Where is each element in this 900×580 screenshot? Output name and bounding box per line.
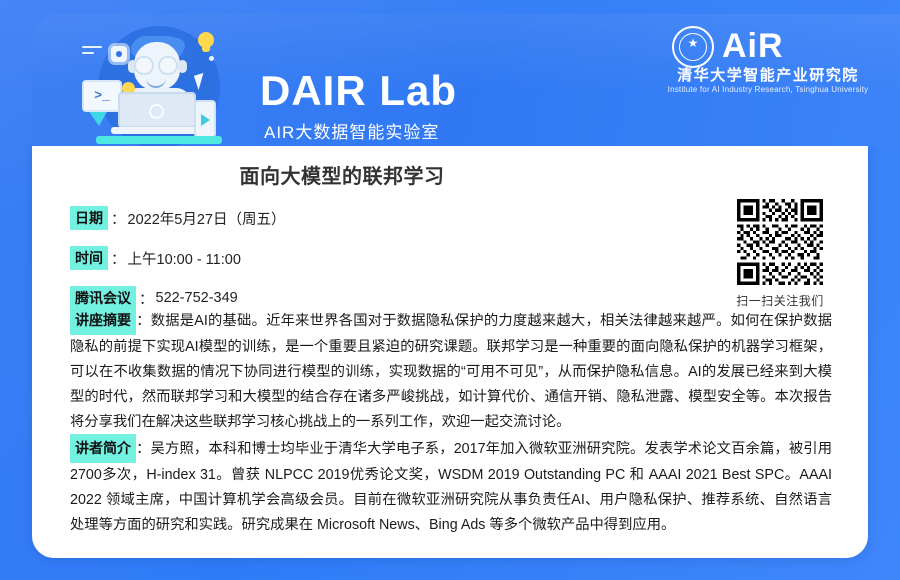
- meeting-id-value: 522-752-349: [156, 290, 238, 306]
- idea-dot-icon: [209, 56, 214, 61]
- lab-title: DAIR Lab: [260, 70, 457, 112]
- abstract-paragraph: 讲座摘要：数据是AI的基础。近年来世界各国对于数据隐私保护的力度越来越大，相关法…: [70, 306, 832, 435]
- seminar-poster: >_ DAIR Lab AIR大数据智能实验室 AiR 清华大学智能产业研究院 …: [0, 0, 900, 580]
- lab-subtitle: AIR大数据智能实验室: [264, 124, 439, 141]
- terminal-pointer: [88, 110, 108, 126]
- time-separator: ：: [108, 248, 128, 269]
- abstract-separator: ：: [136, 313, 151, 329]
- tsinghua-seal-icon: [672, 26, 714, 68]
- bio-separator: ：: [136, 441, 151, 457]
- date-value: 2022年5月27日（周五）: [128, 208, 286, 229]
- date-label: 日期: [70, 206, 108, 230]
- air-logo: AiR 清华大学智能产业研究院 Institute for AI Industr…: [652, 24, 878, 94]
- qr-code-image[interactable]: [734, 196, 826, 288]
- page-title: 面向大模型的联邦学习: [32, 160, 652, 189]
- date-separator: ：: [108, 208, 128, 229]
- content-card: 面向大模型的联邦学习 日期 ： 2022年5月27日（周五） 时间 ： 上午10…: [32, 146, 868, 558]
- time-label: 时间: [70, 246, 108, 270]
- meta-row-time: 时间 ： 上午10:00 - 11:00: [70, 246, 490, 270]
- institute-name-en: Institute for AI Industry Research, Tsin…: [658, 86, 878, 94]
- gear-icon: [111, 46, 127, 62]
- developer-illustration: >_: [70, 20, 242, 146]
- bio-label: 讲者简介: [70, 434, 136, 463]
- glasses-lens-right: [158, 56, 178, 75]
- speed-lines-icon: [82, 46, 104, 58]
- abstract-text: 数据是AI的基础。近年来世界各国对于数据隐私保护的力度越来越大，相关法律越来越严…: [70, 313, 832, 430]
- lightbulb-icon: [198, 32, 214, 48]
- meta-row-date: 日期 ： 2022年5月27日（周五）: [70, 206, 490, 230]
- bio-paragraph: 讲者简介：吴方照，本科和博士均毕业于清华大学电子系，2017年加入微软亚洲研究院…: [70, 434, 832, 538]
- desk-bar: [96, 136, 222, 144]
- person-ear-right: [178, 60, 187, 73]
- laptop-logo-ring: [149, 104, 164, 119]
- qr-block: 扫一扫关注我们: [734, 196, 826, 309]
- qr-code-svg: [734, 196, 826, 288]
- poster-header: >_ DAIR Lab AIR大数据智能实验室 AiR 清华大学智能产业研究院 …: [32, 14, 900, 146]
- institute-name-cn: 清华大学智能产业研究院: [658, 68, 878, 83]
- bio-text: 吴方照，本科和博士均毕业于清华大学电子系，2017年加入微软亚洲研究院。发表学术…: [70, 441, 832, 533]
- terminal-window-icon: >_: [82, 80, 122, 112]
- abstract-label: 讲座摘要: [70, 306, 136, 335]
- play-button-icon: [201, 114, 210, 126]
- air-wordmark: AiR: [722, 24, 784, 68]
- glasses-lens-left: [134, 56, 154, 75]
- laptop-base: [111, 127, 203, 134]
- time-value: 上午10:00 - 11:00: [128, 248, 241, 269]
